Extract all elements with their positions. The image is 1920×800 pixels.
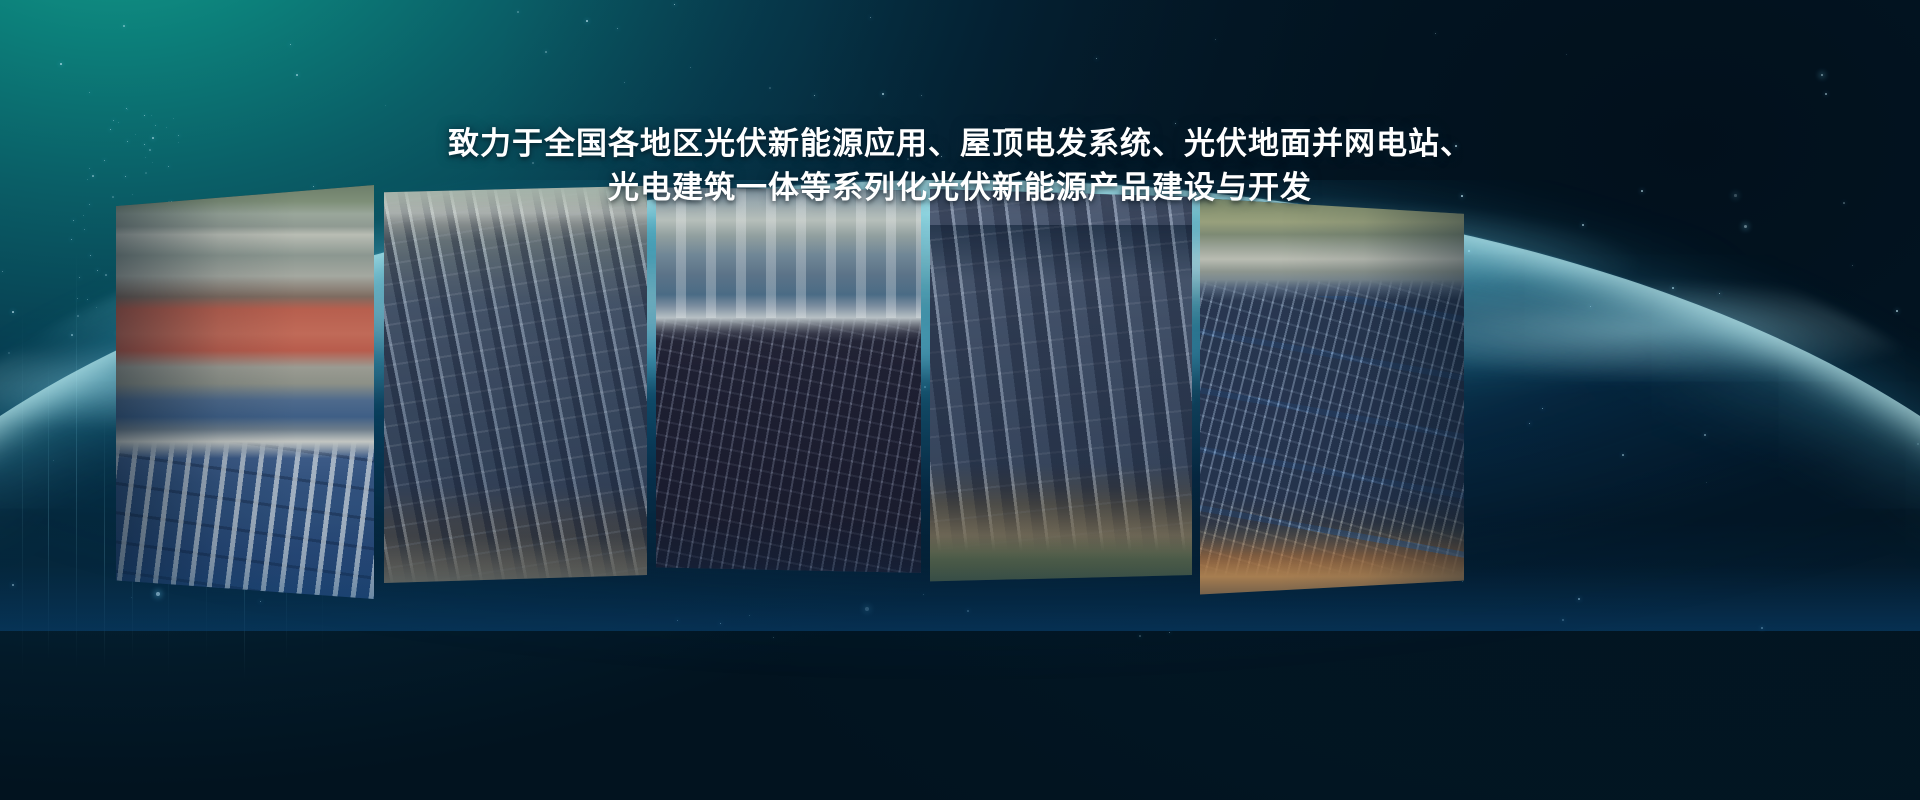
star-particle — [685, 178, 686, 179]
star-particle — [152, 137, 154, 139]
star-particle — [152, 162, 153, 163]
star-particle — [882, 93, 884, 95]
star-particle — [110, 129, 111, 130]
star-particle — [690, 67, 691, 68]
gallery-photo-1[interactable] — [116, 185, 374, 599]
star-particle — [92, 175, 94, 177]
star-particle — [1821, 74, 1823, 76]
star-particle — [1455, 145, 1457, 147]
star-particle — [135, 134, 136, 135]
star-particle — [145, 172, 147, 174]
star-particle — [178, 142, 179, 143]
star-particle — [907, 158, 909, 160]
star-particle — [1566, 54, 1567, 55]
gallery-photo-4[interactable] — [930, 185, 1192, 583]
star-particle — [290, 44, 291, 45]
star-particle — [1761, 627, 1763, 629]
star-particle — [532, 162, 534, 164]
star-particle — [296, 74, 298, 76]
star-particle — [814, 95, 815, 96]
star-particle — [517, 11, 519, 13]
star-particle — [173, 118, 174, 119]
photo-tilted-array-aerial — [930, 185, 1192, 583]
photo-gallery — [0, 185, 1920, 625]
star-particle — [1300, 178, 1302, 180]
star-particle — [1435, 33, 1436, 34]
star-particle — [113, 120, 114, 121]
star-particle — [1141, 178, 1144, 181]
star-particle — [155, 125, 156, 126]
photo-rooftop-pv-factory — [116, 185, 374, 599]
star-particle — [104, 160, 105, 161]
star-particle — [1139, 635, 1141, 637]
star-particle — [126, 108, 127, 109]
star-particle — [941, 156, 942, 157]
photo-warehouse-roof-array — [656, 185, 921, 576]
star-particle — [545, 51, 547, 53]
star-particle — [144, 115, 145, 116]
star-particle — [870, 17, 871, 18]
star-particle — [127, 141, 128, 142]
star-particle — [1175, 123, 1176, 124]
star-particle — [178, 135, 179, 136]
star-particle — [1262, 122, 1263, 123]
photo-blue-roof-pv-system — [1200, 185, 1464, 597]
star-particle — [118, 122, 119, 123]
star-particle — [769, 87, 771, 89]
star-particle — [1825, 93, 1827, 95]
star-particle — [586, 20, 588, 22]
star-particle — [385, 105, 386, 106]
star-particle — [1400, 144, 1402, 146]
star-particle — [1215, 39, 1216, 40]
hero-banner: 致力于全国各地区光伏新能源应用、屋顶电发系统、光伏地面并网电站、 光电建筑一体等… — [0, 0, 1920, 800]
star-particle — [127, 109, 128, 110]
star-particle — [145, 157, 146, 158]
star-particle — [166, 127, 167, 128]
gallery-photo-5[interactable] — [1200, 185, 1464, 597]
star-particle — [1096, 58, 1097, 59]
star-particle — [87, 179, 88, 180]
star-particle — [60, 63, 62, 65]
star-particle — [773, 637, 774, 638]
star-particle — [151, 115, 152, 116]
star-particle — [149, 149, 151, 151]
star-particle — [168, 166, 169, 167]
star-particle — [921, 95, 922, 96]
star-particle — [125, 176, 126, 177]
star-particle — [89, 168, 90, 169]
star-particle — [939, 182, 941, 184]
gallery-photo-3[interactable] — [656, 185, 921, 576]
star-particle — [617, 28, 618, 29]
star-particle — [674, 4, 675, 5]
star-particle — [802, 149, 804, 151]
photo-ground-mount-rows — [384, 185, 647, 585]
star-particle — [1169, 632, 1170, 633]
star-particle — [144, 144, 145, 145]
star-particle — [89, 92, 90, 93]
star-particle — [859, 152, 860, 153]
gallery-photo-2[interactable] — [384, 185, 647, 585]
star-particle — [123, 25, 125, 27]
star-particle — [624, 82, 625, 83]
